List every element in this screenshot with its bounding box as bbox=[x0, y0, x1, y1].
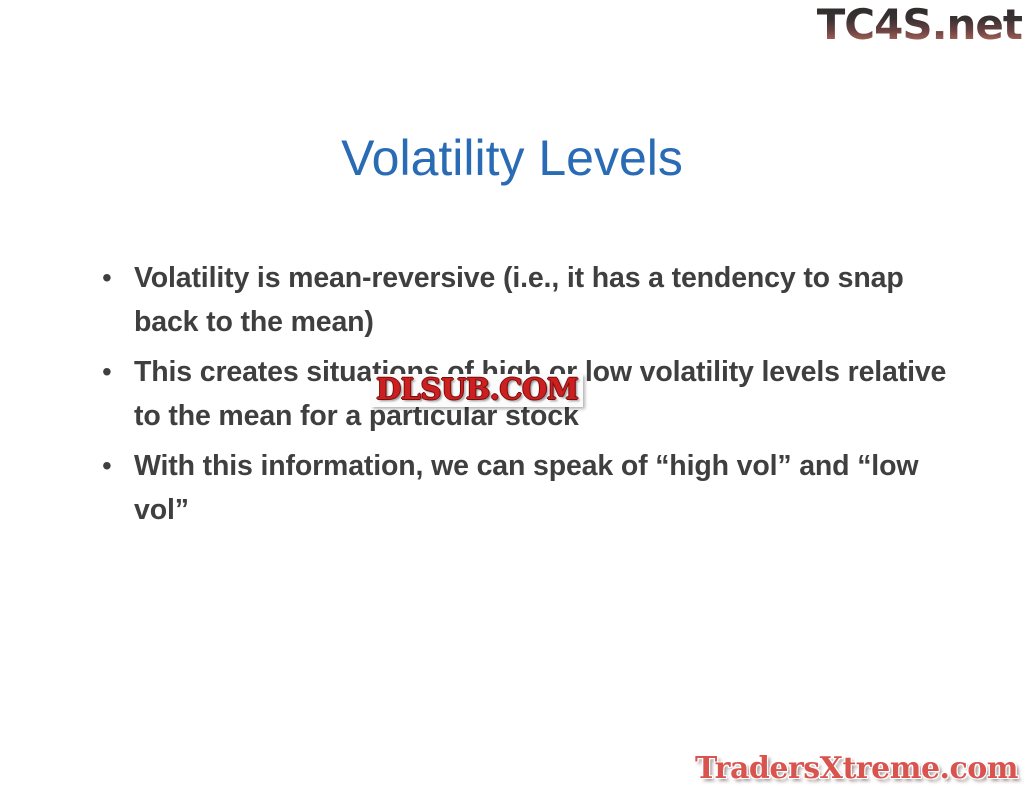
tradersxtreme-com-watermark: TradersXtreme.com bbox=[695, 751, 1018, 787]
bullet-marker-icon: • bbox=[96, 256, 134, 300]
list-item: • With this information, we can speak of… bbox=[96, 444, 956, 532]
slide-title: Volatility Levels bbox=[0, 128, 1024, 188]
bullet-text-3: With this information, we can speak of “… bbox=[134, 444, 956, 532]
presentation-slide: TC4S.net Volatility Levels • Volatility … bbox=[0, 0, 1024, 791]
list-item: • Volatility is mean-reversive (i.e., it… bbox=[96, 256, 956, 344]
dlsub-com-watermark: DLSUB.COM bbox=[371, 374, 583, 407]
bullet-marker-icon: • bbox=[96, 350, 134, 394]
bullet-marker-icon: • bbox=[96, 444, 134, 488]
bullet-text-1: Volatility is mean-reversive (i.e., it h… bbox=[134, 256, 956, 344]
tc4s-net-watermark: TC4S.net bbox=[817, 2, 1022, 48]
